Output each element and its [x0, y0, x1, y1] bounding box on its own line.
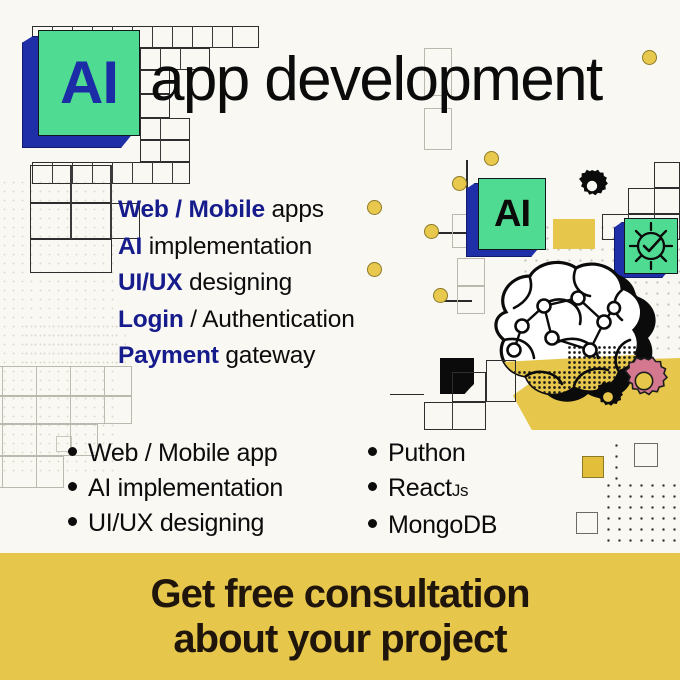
gear-icon-pink — [618, 355, 670, 407]
feature-line: UI/UX designing — [118, 265, 448, 302]
feature-rest: / Authentication — [184, 306, 355, 333]
bullet-label: AI implementation — [88, 471, 283, 506]
bullet-label: Puthon — [388, 436, 465, 471]
page-title: app development — [150, 44, 670, 116]
feature-line: Payment gateway — [118, 338, 448, 375]
cta-line-2: about your project — [173, 617, 506, 662]
feature-rest: apps — [265, 196, 324, 223]
cta-line-1: Get free consultation — [150, 572, 529, 617]
ai-chip-label: AI — [494, 193, 530, 236]
feature-rest: implementation — [142, 233, 312, 260]
bullet-label: React — [388, 471, 452, 506]
bullet-label: UI/UX designing — [88, 506, 264, 541]
feature-keyword: Login — [118, 306, 184, 333]
bullet-dot-icon — [68, 517, 77, 526]
dot-texture-upper-left — [22, 322, 126, 368]
circuit-node-icon — [452, 176, 467, 191]
list-item: Puthon — [368, 436, 497, 471]
dot-texture-right-block — [603, 480, 680, 548]
circuit-node-icon — [484, 151, 499, 166]
cta-banner[interactable]: Get free consultation about your project — [0, 553, 680, 680]
list-item: UI/UX designing — [68, 506, 368, 541]
ai-chip-face: AI — [478, 178, 546, 250]
gear-icon — [574, 168, 610, 204]
feature-keyword: AI — [118, 233, 142, 260]
list-item: AI implementation — [68, 471, 368, 506]
bullet-dot-icon — [68, 482, 77, 491]
bullet-column-right: Puthon ReactJs MongoDB — [368, 436, 497, 543]
bullet-column-left: Web / Mobile app AI implementation UI/UX… — [68, 436, 368, 543]
bullet-label: MongoDB — [388, 508, 497, 543]
ai-logo-face: AI — [38, 30, 140, 136]
gear-icon-small — [591, 380, 625, 414]
bullet-dot-icon — [368, 519, 377, 528]
bullet-dot-icon — [368, 482, 377, 491]
ai-logo-text: AI — [60, 53, 118, 113]
feature-list: Web / Mobile apps AI implementation UI/U… — [118, 192, 448, 375]
circuit-node-icon — [642, 50, 657, 65]
bullet-dot-icon — [368, 447, 377, 456]
decor-square-filled — [582, 456, 604, 478]
ai-chip: AI — [466, 178, 546, 258]
circuit-node-icon — [433, 288, 448, 303]
feature-keyword: UI/UX — [118, 269, 182, 296]
feature-line: AI implementation — [118, 229, 448, 266]
feature-line: Web / Mobile apps — [118, 192, 448, 229]
bullet-dot-icon — [68, 447, 77, 456]
list-item: ReactJs — [368, 471, 497, 508]
feature-keyword: Payment — [118, 342, 219, 369]
circuit-node-icon — [367, 262, 382, 277]
feature-rest: designing — [182, 269, 292, 296]
circuit-node-icon — [424, 224, 439, 239]
list-item: Web / Mobile app — [68, 436, 368, 471]
feature-rest: gateway — [219, 342, 315, 369]
bullet-label: Web / Mobile app — [88, 436, 277, 471]
tech-bullet-list: Web / Mobile app AI implementation UI/UX… — [68, 436, 568, 543]
ai-logo: AI — [22, 30, 140, 152]
list-item: MongoDB — [368, 508, 497, 543]
decor-square-outline — [576, 512, 598, 534]
yellow-accent-square — [553, 219, 595, 249]
decor-square-outline — [634, 443, 658, 467]
feature-line: Login / Authentication — [118, 302, 448, 339]
bullet-sublabel: Js — [452, 473, 468, 508]
poster-canvas: AI app development Web / Mobile apps AI … — [0, 0, 680, 680]
circuit-node-icon — [367, 200, 382, 215]
feature-keyword: Web / Mobile — [118, 196, 265, 223]
